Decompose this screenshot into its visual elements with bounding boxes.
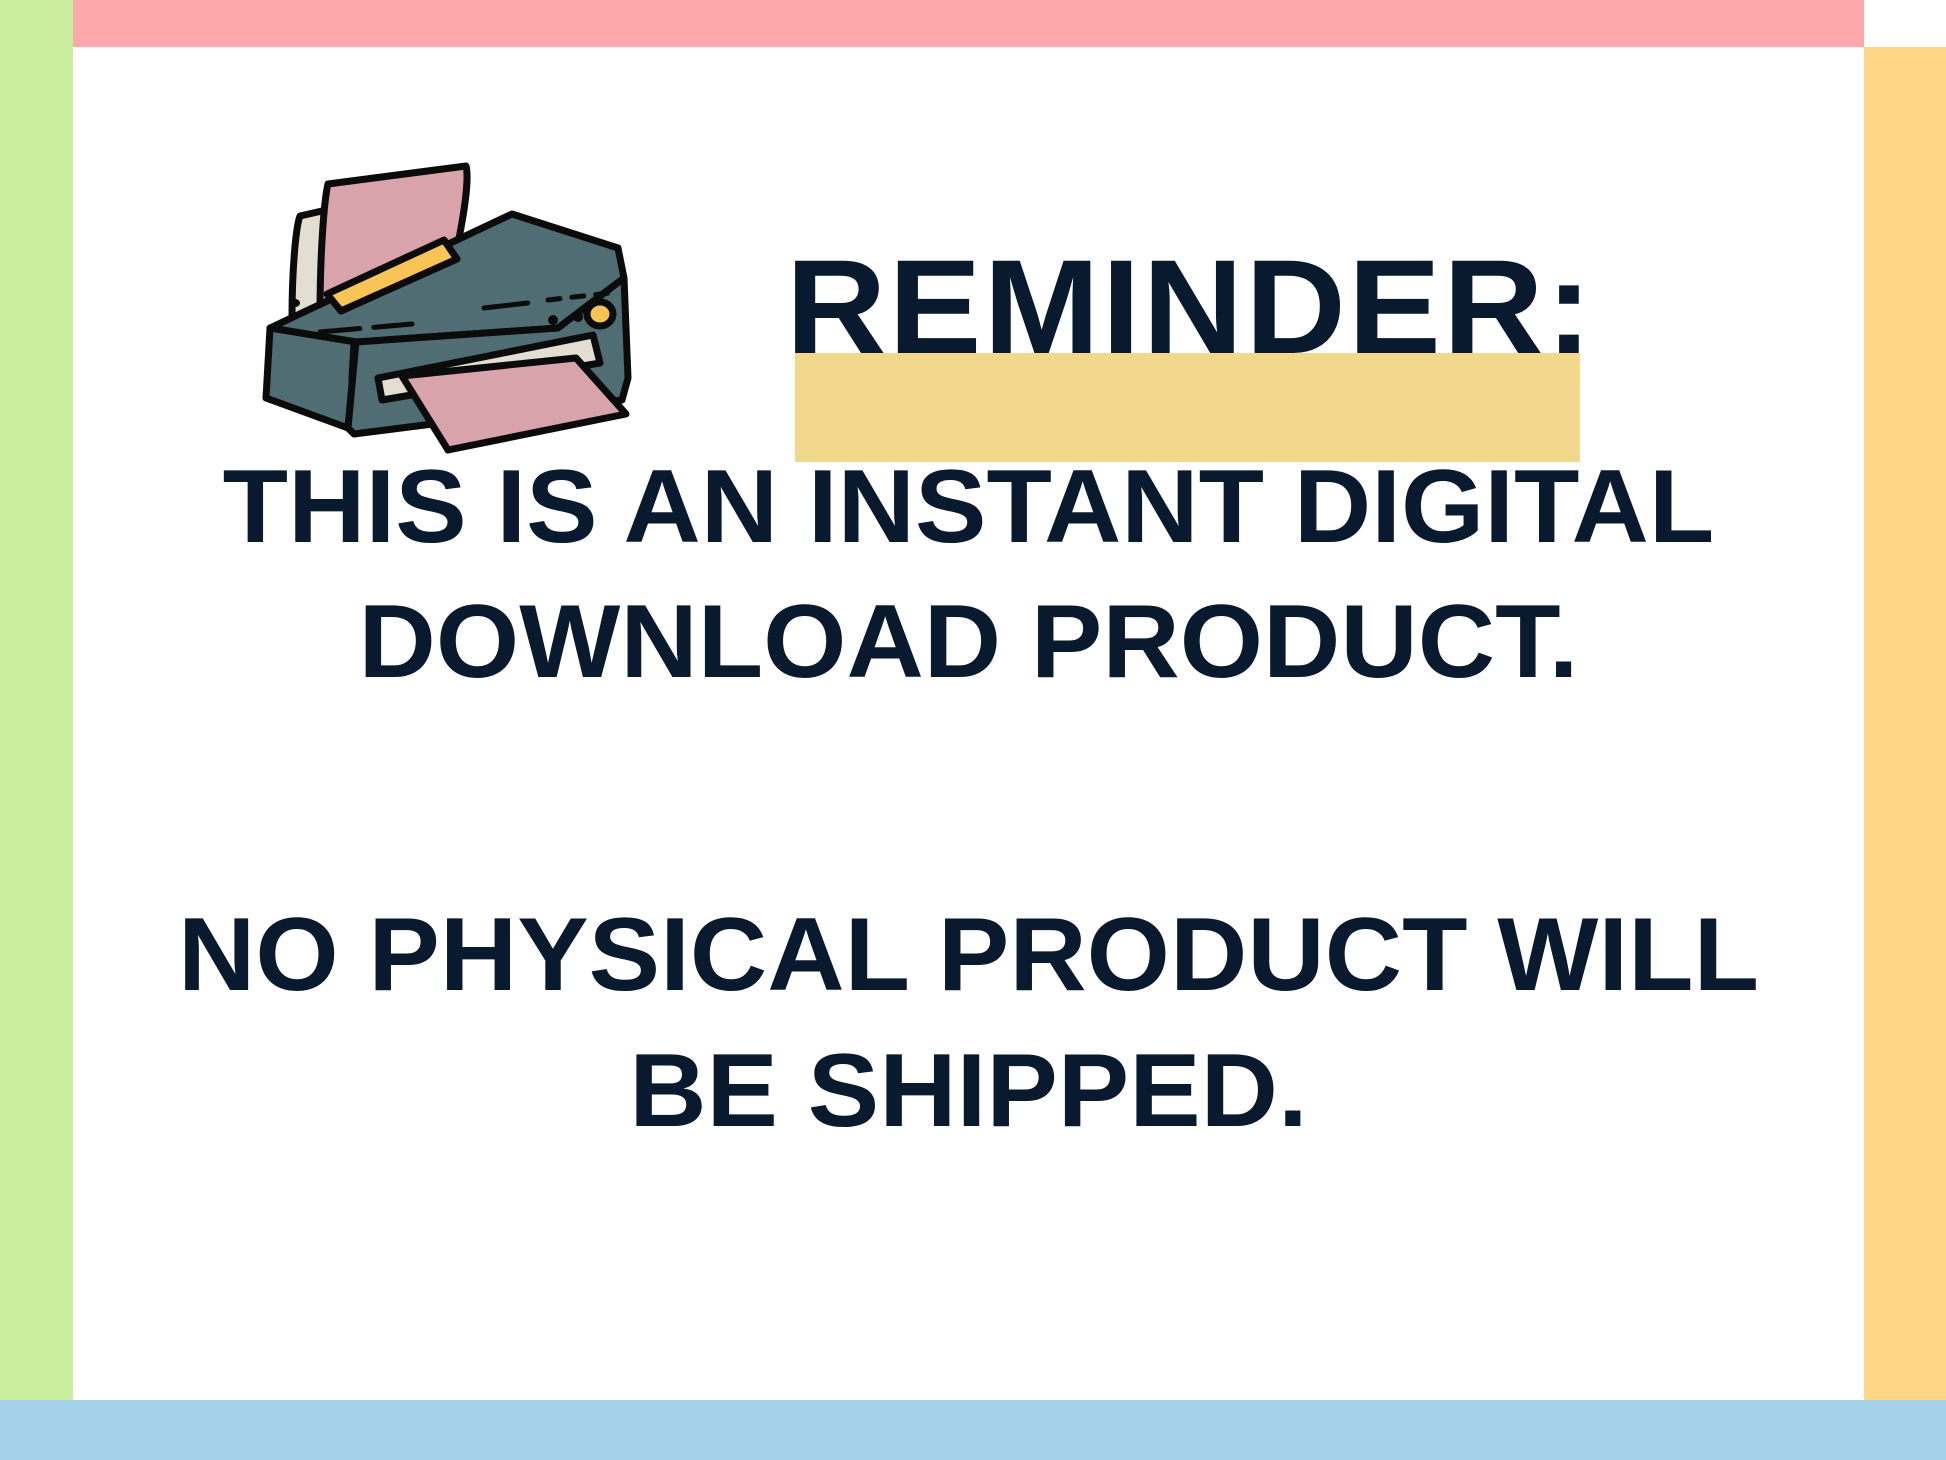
printer-paper-pink-out [402,358,626,450]
printer-power-button [587,302,613,326]
headline: REMINDER: [795,222,1585,467]
printer-icon [248,128,668,468]
poster-canvas: REMINDER: THIS IS AN INSTANT DIGITAL DOW… [0,0,1946,1460]
body-copy: THIS IS AN INSTANT DIGITAL DOWNLOAD PROD… [73,440,1864,1159]
printer-left-face [266,328,356,428]
right-color-band [1864,47,1946,1400]
paragraph-2-line-2: BE SHIPPED. [46,1024,1891,1159]
headline-text: REMINDER: [779,222,1601,394]
paragraph-1-line-1: THIS IS AN INSTANT DIGITAL [46,440,1891,575]
paragraph-2-line-1: NO PHYSICAL PRODUCT WILL [46,888,1891,1023]
paragraph-2: NO PHYSICAL PRODUCT WILL BE SHIPPED. [46,888,1891,1158]
top-color-band [73,0,1864,47]
paragraph-spacer [73,710,1864,888]
paragraph-1-line-2: DOWNLOAD PRODUCT. [46,575,1891,710]
bottom-color-band [0,1400,1946,1460]
paragraph-1: THIS IS AN INSTANT DIGITAL DOWNLOAD PROD… [46,440,1891,710]
